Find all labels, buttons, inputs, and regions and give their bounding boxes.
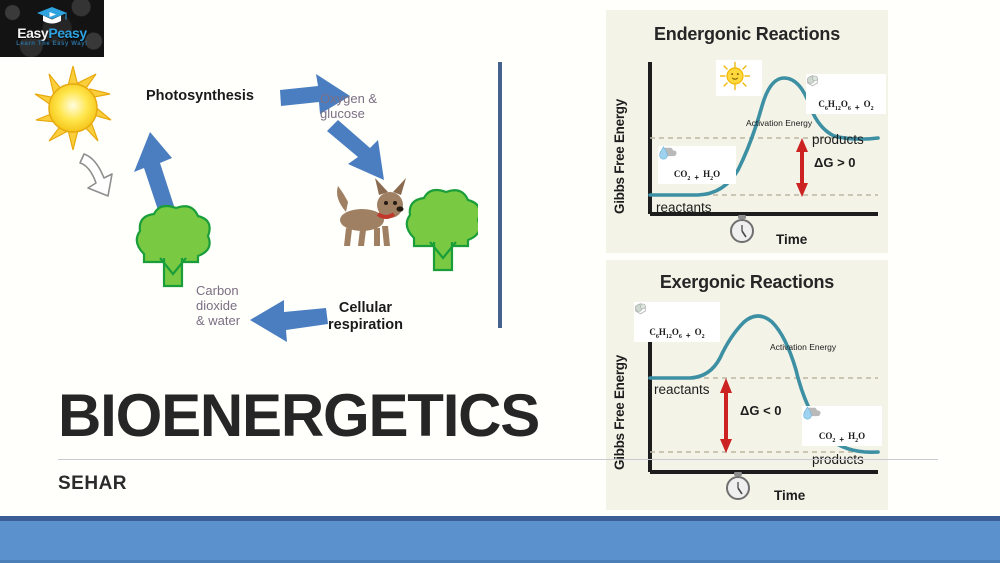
endergonic-reactant-formula: CO2 + H2O <box>658 146 736 184</box>
delta-g-arrow-endergonic <box>796 138 808 197</box>
exergonic-reactants-label: reactants <box>654 382 710 397</box>
sun-icon <box>35 66 111 150</box>
title-divider <box>58 459 938 460</box>
endergonic-reactants-label: reactants <box>656 200 712 215</box>
endergonic-reaction-chart: Endergonic Reactions Gi <box>606 10 888 253</box>
logo-word-easy: Easy <box>17 25 48 41</box>
sun-icon <box>716 60 754 92</box>
h2o-formula: H2O <box>848 431 865 444</box>
exergonic-y-axis-label: Gibbs Free Energy <box>612 318 627 470</box>
page-title: BIOENERGETICS <box>58 386 539 446</box>
h2o-formula: H2O <box>703 169 720 182</box>
graduation-cap-icon <box>36 6 68 26</box>
logo-word-peasy: Peasy <box>48 25 86 41</box>
label-carbon-line1: Carbon <box>196 284 240 299</box>
exergonic-delta-g-label: ΔG < 0 <box>740 403 782 418</box>
label-carbon-line2: dioxide <box>196 299 240 314</box>
plus-sign: + <box>855 103 860 112</box>
co2-formula: CO2 <box>819 431 836 444</box>
broccoli-icon <box>407 190 478 270</box>
label-oxygen-glucose: Oxygen & glucose <box>320 92 377 122</box>
endergonic-products-label: products <box>812 132 864 147</box>
label-cellular-line2: respiration <box>328 317 403 334</box>
bottom-bar <box>0 521 1000 563</box>
stopwatch-icon <box>727 472 749 499</box>
plus-sign: + <box>694 173 699 182</box>
vertical-separator <box>498 62 502 328</box>
label-cellular-respiration: Cellular respiration <box>328 300 403 333</box>
slide-canvas: EasyPeasy Learn The Easy Way! <box>0 0 1000 563</box>
endergonic-activation-energy-label: Activation Energy <box>746 118 812 128</box>
exergonic-activation-energy-label: Activation Energy <box>770 342 836 352</box>
endergonic-y-axis-label: Gibbs Free Energy <box>612 72 627 214</box>
label-photosynthesis: Photosynthesis <box>146 88 254 105</box>
endergonic-product-formula: C6H12O6 + O2 <box>806 74 886 114</box>
glucose-formula: C6H12O6 <box>818 99 851 112</box>
dog-icon <box>337 178 406 246</box>
endergonic-delta-g-label: ΔG > 0 <box>814 155 856 170</box>
delta-g-arrow-exergonic <box>720 378 732 453</box>
logo-tagline: Learn The Easy Way! <box>0 41 104 47</box>
o2-formula: O2 <box>864 99 874 112</box>
stopwatch-icon <box>731 215 753 242</box>
sunlight-arrow-icon <box>80 154 112 196</box>
plus-sign: + <box>686 331 691 340</box>
tree-icon <box>137 206 210 286</box>
easypeasy-logo[interactable]: EasyPeasy Learn The Easy Way! <box>0 0 104 57</box>
exergonic-reaction-chart: Exergonic Reactions Gibbs Free Energy re… <box>606 260 888 510</box>
label-carbon-dioxide-water: Carbon dioxide & water <box>196 284 240 329</box>
label-oxygen-glucose-line1: Oxygen & <box>320 92 377 107</box>
plus-sign: + <box>839 435 844 444</box>
o2-formula: O2 <box>695 327 705 340</box>
label-carbon-line3: & water <box>196 314 240 329</box>
exergonic-product-formula: CO2 + H2O <box>802 406 882 446</box>
page-subtitle: SEHAR <box>58 473 127 495</box>
co2-formula: CO2 <box>674 169 691 182</box>
label-oxygen-glucose-line2: glucose <box>320 107 377 122</box>
label-cellular-line1: Cellular <box>328 300 403 317</box>
glucose-formula: C6H12O6 <box>649 327 682 340</box>
exergonic-plot <box>606 260 888 510</box>
endergonic-x-axis-label: Time <box>776 232 807 247</box>
cycle-graphics <box>28 62 478 362</box>
exergonic-x-axis-label: Time <box>774 488 805 503</box>
exergonic-reactant-formula: C6H12O6 + O2 <box>634 302 720 342</box>
endergonic-energy-input-sun <box>716 60 762 96</box>
photosynthesis-respiration-cycle: Photosynthesis Oxygen & glucose Carbon d… <box>28 62 478 362</box>
logo-wordmark: EasyPeasy <box>0 26 104 40</box>
